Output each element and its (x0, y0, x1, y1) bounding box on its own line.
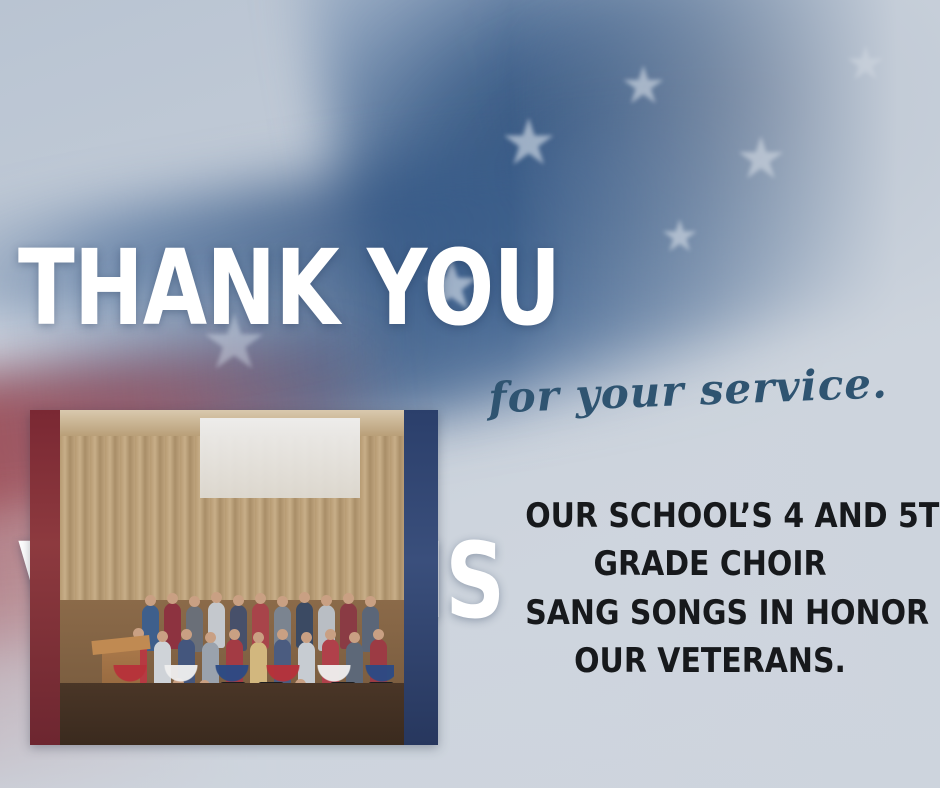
photo-right-wall (404, 410, 438, 745)
headline-line-1: THANK YOU (18, 240, 560, 338)
veterans-day-poster: ★ ★ ★ ★ ★ ★ ★ THANK YOU VETERANS for you… (0, 0, 940, 788)
photo-left-wall (30, 410, 60, 745)
caption-line-1: OUR SCHOOL’S 4 AND 5TH- (525, 492, 895, 540)
caption-line-2: GRADE CHOIR (525, 540, 895, 588)
choir-photo (30, 410, 438, 745)
photo-patriotic-bunting (94, 665, 394, 705)
caption-line-3: SANG SONGS IN HONOR OF (525, 589, 895, 637)
poster-caption: OUR SCHOOL’S 4 AND 5TH- GRADE CHOIR SANG… (525, 492, 895, 685)
photo-projection-screen (200, 418, 360, 498)
caption-line-4: OUR VETERANS. (525, 637, 895, 685)
